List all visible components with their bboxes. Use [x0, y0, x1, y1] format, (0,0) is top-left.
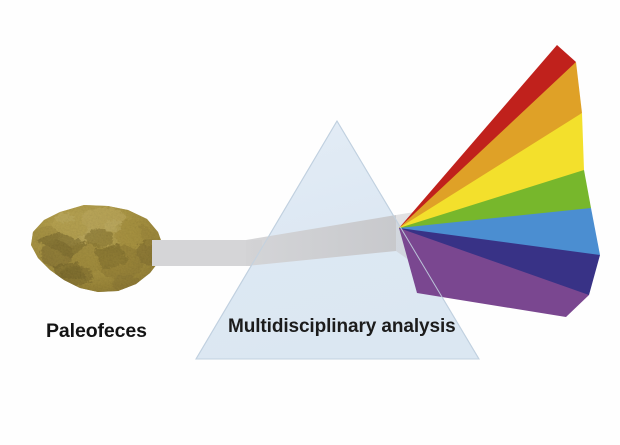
figure-root: Paleofeces Multidisciplinary analysis — [0, 0, 620, 445]
prism-label: Multidisciplinary analysis — [228, 316, 456, 338]
incident-white-beam — [152, 240, 262, 266]
figure-canvas — [0, 0, 620, 445]
specimen-label: Paleofeces — [46, 320, 147, 343]
